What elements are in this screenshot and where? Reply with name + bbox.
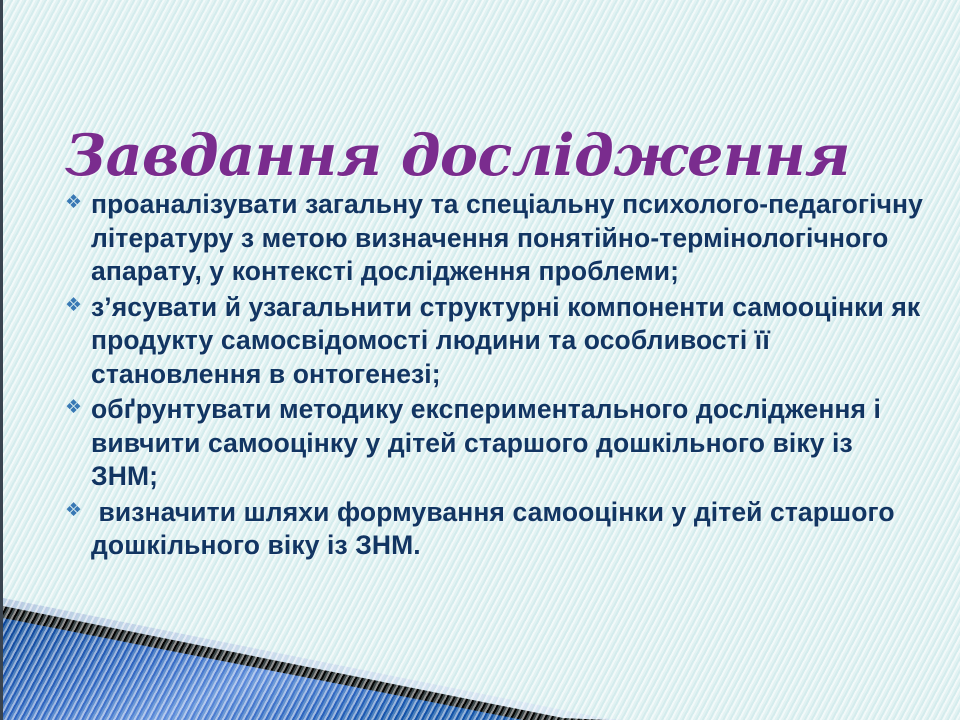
diamond-cluster-bullet-icon: ❖ bbox=[65, 296, 91, 315]
presentation-slide: Завдання дослідження ❖ проаналізувати за… bbox=[0, 0, 960, 720]
list-item: ❖ з’ясувати й узагальнити структурні ком… bbox=[65, 291, 925, 392]
deco-band-blue bbox=[3, 618, 523, 720]
deco-band-black bbox=[3, 606, 607, 720]
list-item: ❖ проаналізувати загальну та спеціальну … bbox=[65, 188, 925, 289]
list-item: ❖ обґрунтувати методику експериментально… bbox=[65, 393, 925, 494]
task-bullet-list: ❖ проаналізувати загальну та спеціальну … bbox=[65, 188, 925, 565]
list-item: ❖ визначити шляхи формування самооцінки … bbox=[65, 496, 925, 563]
list-item-text: з’ясувати й узагальнити структурні компо… bbox=[91, 291, 925, 392]
decorative-diagonal-bands bbox=[3, 560, 623, 720]
deco-band-pale bbox=[3, 598, 623, 720]
list-item-text: обґрунтувати методику експериментального… bbox=[91, 393, 925, 494]
diamond-cluster-bullet-icon: ❖ bbox=[65, 193, 91, 212]
slide-title: Завдання дослідження bbox=[65, 122, 850, 189]
diamond-cluster-bullet-icon: ❖ bbox=[65, 398, 91, 417]
diamond-cluster-bullet-icon: ❖ bbox=[65, 501, 91, 520]
list-item-text: визначити шляхи формування самооцінки у … bbox=[91, 496, 925, 563]
list-item-text: проаналізувати загальну та спеціальну пс… bbox=[91, 188, 925, 289]
